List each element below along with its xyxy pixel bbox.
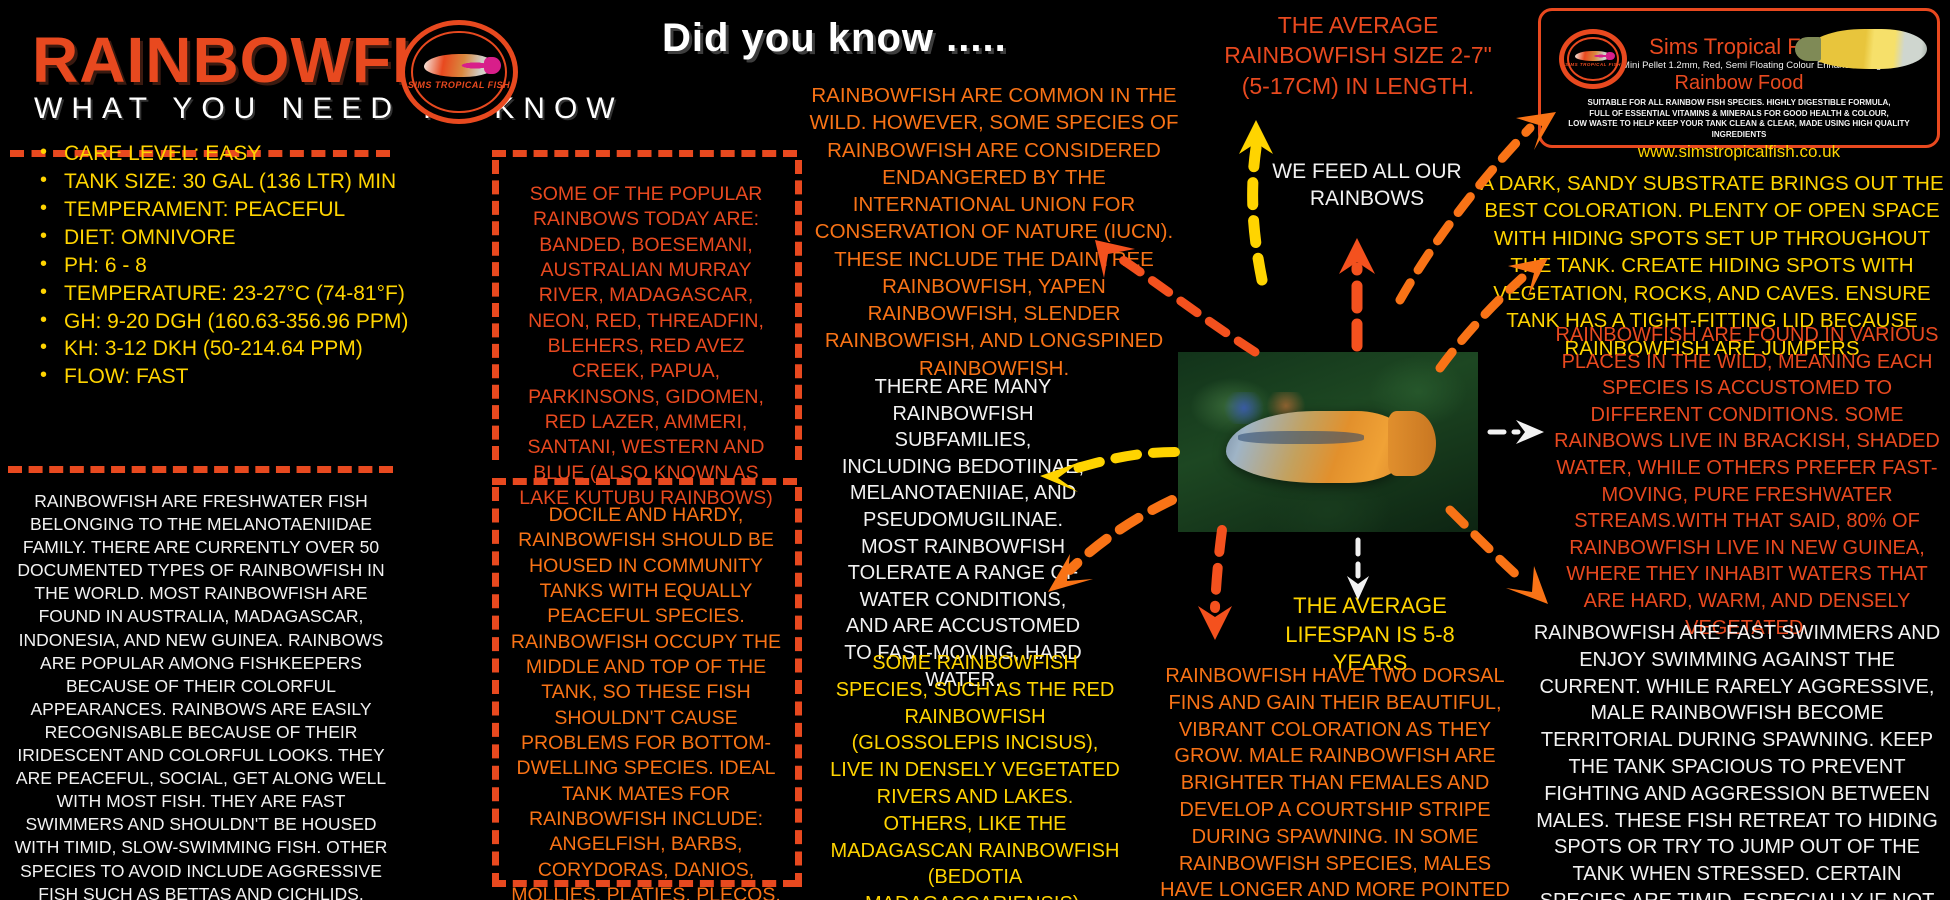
arrow-down-orange-lifespan-head — [1198, 606, 1232, 640]
list-item: KH: 3-12 DKH (50-214.64 PPM) — [34, 335, 394, 363]
list-item: TEMPERATURE: 23-27°C (74-81°F) — [34, 280, 394, 308]
list-item: FLOW: FAST — [34, 363, 394, 391]
list-item: DIET: OMNIVORE — [34, 224, 394, 252]
we-feed-text: WE FEED ALL OUR RAINBOWS — [1272, 158, 1462, 213]
arrow-up-yellow-head — [1239, 120, 1273, 154]
list-item: CARE LEVEL: EASY — [34, 140, 394, 168]
divider-vertical-col2-right-lower — [795, 487, 802, 887]
arrow-up-yellow — [1253, 148, 1262, 280]
product-bullets: SUITABLE FOR ALL RAINBOW FISH SPECIES. H… — [1551, 98, 1927, 140]
product-bullet-line: FULL OF ESSENTIAL VITAMINS & MINERALS FO… — [1551, 109, 1927, 119]
divider-vertical-col2-left — [492, 160, 499, 460]
product-logo-caption: SIMS TROPICAL FISH — [1565, 62, 1621, 67]
product-url[interactable]: www.simstropicalfish.co.uk — [1551, 142, 1927, 162]
product-bullet-line: SUITABLE FOR ALL RAINBOW FISH SPECIES. H… — [1551, 98, 1927, 108]
fast-swimmers-text: RAINBOWFISH ARE FAST SWIMMERS AND ENJOY … — [1528, 620, 1946, 900]
infographic-canvas: RAINBOWFISH WHAT YOU NEED TO KNOW CARE L… — [0, 0, 1950, 900]
product-card[interactable]: SIMS TROPICAL FISH Sims Tropical Fish Ne… — [1538, 8, 1940, 148]
photo-fish-stripe — [1238, 431, 1364, 444]
endangered-text: RAINBOWFISH ARE COMMON IN THE WILD. HOWE… — [808, 82, 1180, 382]
photo-fish-tail — [1388, 411, 1436, 476]
rainbowfish-illustration-icon — [1807, 29, 1927, 69]
fish-logo-icon — [1575, 51, 1612, 61]
average-size-text: THE AVERAGE RAINBOWFISH SIZE 2-7" (5-17C… — [1208, 10, 1508, 101]
arrow-downright-orange-head — [1506, 566, 1548, 604]
list-item: PH: 6 - 8 — [34, 252, 394, 280]
list-item: TANK SIZE: 30 GAL (136 LTR) MIN — [34, 168, 394, 196]
popular-rainbows-text: SOME OF THE POPULAR RAINBOWS TODAY ARE: … — [510, 182, 782, 511]
divider-left-bottom — [8, 466, 393, 473]
subfamilies-text: THERE ARE MANY RAINBOWFISH SUBFAMILIES, … — [838, 374, 1088, 693]
list-item: GH: 9-20 DGH (160.63-356.96 PPM) — [34, 308, 394, 336]
product-logo-inner-ring: SIMS TROPICAL FISH — [1567, 37, 1618, 81]
divider-vertical-col2-right — [795, 160, 802, 460]
arrow-up-orange-head — [1339, 238, 1375, 274]
logo-caption: SIMS TROPICAL FISH — [408, 80, 510, 90]
sims-tropical-fish-logo: SIMS TROPICAL FISH — [400, 20, 518, 124]
fish-logo-icon — [424, 54, 495, 78]
rainbowfish-photo — [1178, 352, 1478, 532]
did-you-know-heading: Did you know ..... — [662, 16, 1007, 61]
species-examples-text: SOME RAINBOWFISH SPECIES, SUCH AS THE RE… — [830, 650, 1120, 900]
page-subtitle: WHAT YOU NEED TO KNOW — [34, 92, 624, 126]
logo-inner-ring: SIMS TROPICAL FISH — [411, 31, 506, 114]
product-card-logo: SIMS TROPICAL FISH — [1559, 29, 1627, 89]
product-bullet-line: LOW WASTE TO HELP KEEP YOUR TANK CLEAN &… — [1551, 119, 1927, 140]
dorsal-fins-text: RAINBOWFISH HAVE TWO DORSAL FINS AND GAI… — [1150, 663, 1520, 900]
docile-hardy-text: DOCILE AND HARDY, RAINBOWFISH SHOULD BE … — [508, 503, 784, 900]
arrow-right-white-head — [1516, 420, 1544, 444]
spec-list: CARE LEVEL: EASY TANK SIZE: 30 GAL (136 … — [34, 140, 394, 391]
divider-col2-top — [492, 150, 797, 157]
various-places-text: RAINBOWFISH ARE FOUND IN VARIOUS PLACES … — [1548, 322, 1946, 641]
divider-vertical-col2-left-lower — [492, 487, 499, 887]
list-item: TEMPERAMENT: PEACEFUL — [34, 196, 394, 224]
arrow-down-orange-lifespan — [1215, 530, 1222, 608]
photo-fish-body — [1226, 411, 1412, 483]
intro-paragraph: RAINBOWFISH ARE FRESHWATER FISH BELONGIN… — [12, 490, 390, 900]
